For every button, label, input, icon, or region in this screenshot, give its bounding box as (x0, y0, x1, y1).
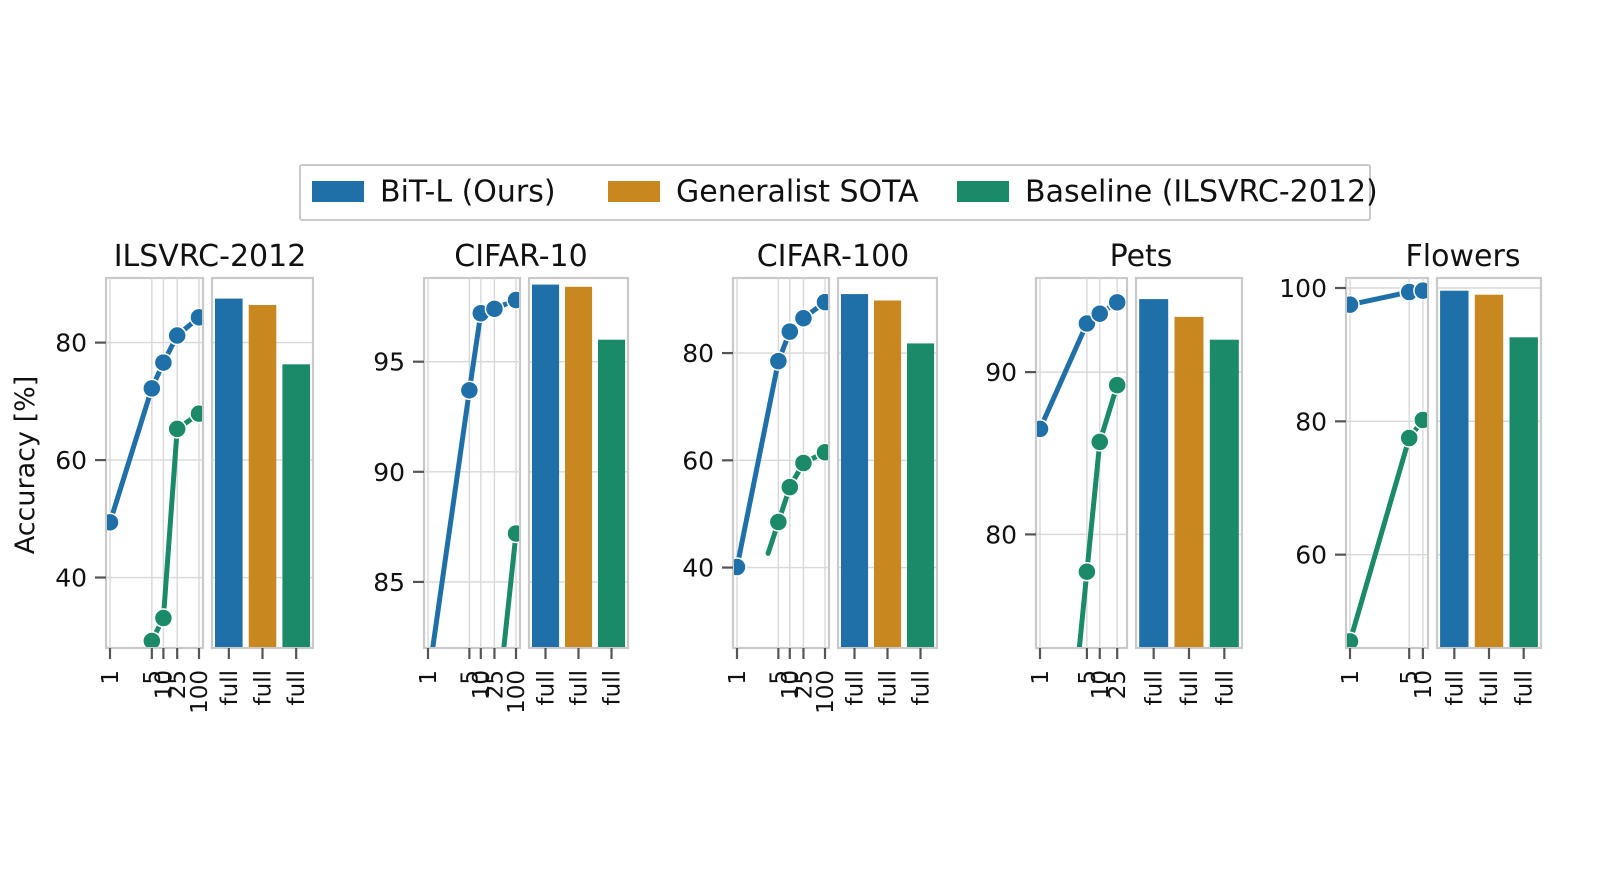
x-tick-label: 1 (98, 670, 124, 685)
data-point (190, 405, 208, 423)
y-tick-label: 95 (373, 348, 405, 377)
line-series-group (428, 291, 525, 891)
line-series-group (728, 293, 834, 576)
subplot-ilsvrc-2012: ILSVRC-2012406080151025100fullfullfull (55, 239, 313, 714)
data-point (794, 309, 812, 327)
y-axis-label: Accuracy [%] (10, 376, 41, 555)
y-tick-label: 85 (373, 568, 405, 597)
y-tick-label: 80 (985, 520, 1017, 549)
data-point (769, 513, 787, 531)
x-tick-label: 1 (1028, 670, 1054, 685)
y-tick-label: 40 (682, 554, 714, 583)
x-tick-label: full (600, 670, 626, 705)
series-line-0 (428, 300, 516, 681)
bar-0 (215, 299, 243, 647)
subplot-cifar-100: CIFAR-100406080151025100fullfullfull (682, 239, 937, 714)
legend-swatch (312, 181, 364, 202)
y-tick-label: 40 (55, 564, 87, 593)
x-tick-label: 1 (725, 670, 751, 685)
legend-swatch (957, 181, 1009, 202)
series-line-0 (110, 317, 199, 522)
data-point (154, 354, 172, 372)
x-tick-label: full (909, 670, 935, 705)
subplot-title: Flowers (1406, 239, 1521, 274)
data-point (1091, 433, 1109, 451)
bar-0 (1440, 291, 1468, 647)
data-point (168, 420, 186, 438)
y-tick-label: 80 (682, 339, 714, 368)
x-tick-label: 100 (504, 670, 530, 714)
x-tick-label: 25 (1105, 670, 1131, 699)
y-tick-label: 60 (55, 446, 87, 475)
data-point (769, 352, 787, 370)
data-point (781, 323, 799, 341)
x-tick-label: full (251, 670, 277, 705)
series-line-1 (1075, 385, 1117, 688)
x-tick-label: full (1442, 670, 1468, 705)
data-point (1091, 305, 1109, 323)
y-tick-label: 60 (1295, 541, 1327, 570)
figure-root: BiT-L (Ours)Generalist SOTABaseline (ILS… (0, 0, 1600, 891)
x-tick-label: 10 (1411, 670, 1437, 699)
data-point (816, 293, 834, 311)
y-axis-label-text: Accuracy [%] (10, 376, 41, 555)
data-point (1414, 282, 1432, 300)
data-point (168, 327, 186, 345)
data-point (460, 381, 478, 399)
bar-2 (282, 364, 310, 647)
data-point (1341, 296, 1359, 314)
data-point (154, 609, 172, 627)
bar-1 (1475, 295, 1503, 647)
data-point (1414, 411, 1432, 429)
x-tick-label: full (1512, 670, 1538, 705)
x-tick-label: full (1212, 670, 1238, 705)
data-point (1078, 563, 1096, 581)
subplot-title: ILSVRC-2012 (114, 239, 307, 274)
data-point (816, 443, 834, 461)
data-point (781, 478, 799, 496)
data-point (1400, 429, 1418, 447)
bar-1 (874, 301, 901, 648)
x-tick-label: full (567, 670, 593, 705)
data-point (507, 524, 525, 542)
data-point (190, 308, 208, 326)
data-point (143, 379, 161, 397)
data-point (1031, 420, 1049, 438)
y-tick-label: 60 (682, 446, 714, 475)
x-tick-label: full (284, 670, 310, 705)
series-line-1 (1350, 420, 1423, 641)
bar-2 (1510, 337, 1538, 647)
y-tick-label: 90 (373, 458, 405, 487)
y-tick-label: 80 (55, 329, 87, 358)
data-point (1108, 293, 1126, 311)
bar-1 (249, 305, 277, 647)
legend: BiT-L (Ours)Generalist SOTABaseline (ILS… (300, 165, 1378, 220)
x-tick-label: 100 (187, 670, 213, 714)
bar-1 (565, 287, 592, 647)
subplot-flowers: Flowers60801001510fullfullfull (1279, 239, 1541, 705)
y-tick-label: 80 (1295, 407, 1327, 436)
x-tick-label: 1 (416, 670, 442, 685)
data-point (1108, 376, 1126, 394)
multi-panel-chart: BiT-L (Ours)Generalist SOTABaseline (ILS… (0, 0, 1600, 891)
x-tick-label: full (217, 670, 243, 705)
bar-0 (841, 294, 868, 647)
bar-0 (532, 285, 559, 647)
data-point (485, 300, 503, 318)
line-series-group (1341, 282, 1432, 651)
legend-label: Baseline (ILSVRC-2012) (1025, 175, 1378, 210)
x-tick-label: full (1142, 670, 1168, 705)
bar-2 (907, 343, 934, 647)
legend-label: BiT-L (Ours) (380, 175, 556, 210)
subplot-pets: Pets8090151025fullfullfull (985, 239, 1242, 705)
x-tick-label: full (843, 670, 869, 705)
bar-0 (1139, 299, 1168, 647)
line-series-group (101, 308, 208, 661)
subplot-title: Pets (1110, 239, 1173, 274)
subplot-title: CIFAR-10 (454, 239, 587, 274)
line-panel-frame (1346, 278, 1428, 648)
x-tick-label: full (534, 670, 560, 705)
subplot-title: CIFAR-100 (757, 239, 910, 274)
bar-1 (1175, 317, 1204, 647)
x-tick-label: full (1477, 670, 1503, 705)
data-point (101, 513, 119, 531)
y-tick-label: 90 (985, 358, 1017, 387)
data-point (507, 291, 525, 309)
line-series-group (1031, 293, 1126, 688)
y-tick-label: 100 (1279, 274, 1327, 303)
x-tick-label: 100 (813, 670, 839, 714)
legend-swatch (608, 181, 660, 202)
data-point (794, 454, 812, 472)
x-tick-label: full (1177, 670, 1203, 705)
legend-label: Generalist SOTA (676, 175, 919, 210)
x-tick-label: full (876, 670, 902, 705)
bar-2 (598, 340, 625, 647)
subplot-cifar-10: CIFAR-10859095151025100fullfullfull (373, 239, 628, 891)
line-panel-frame (106, 278, 203, 648)
x-tick-label: 1 (1338, 670, 1364, 685)
bar-2 (1210, 340, 1239, 647)
